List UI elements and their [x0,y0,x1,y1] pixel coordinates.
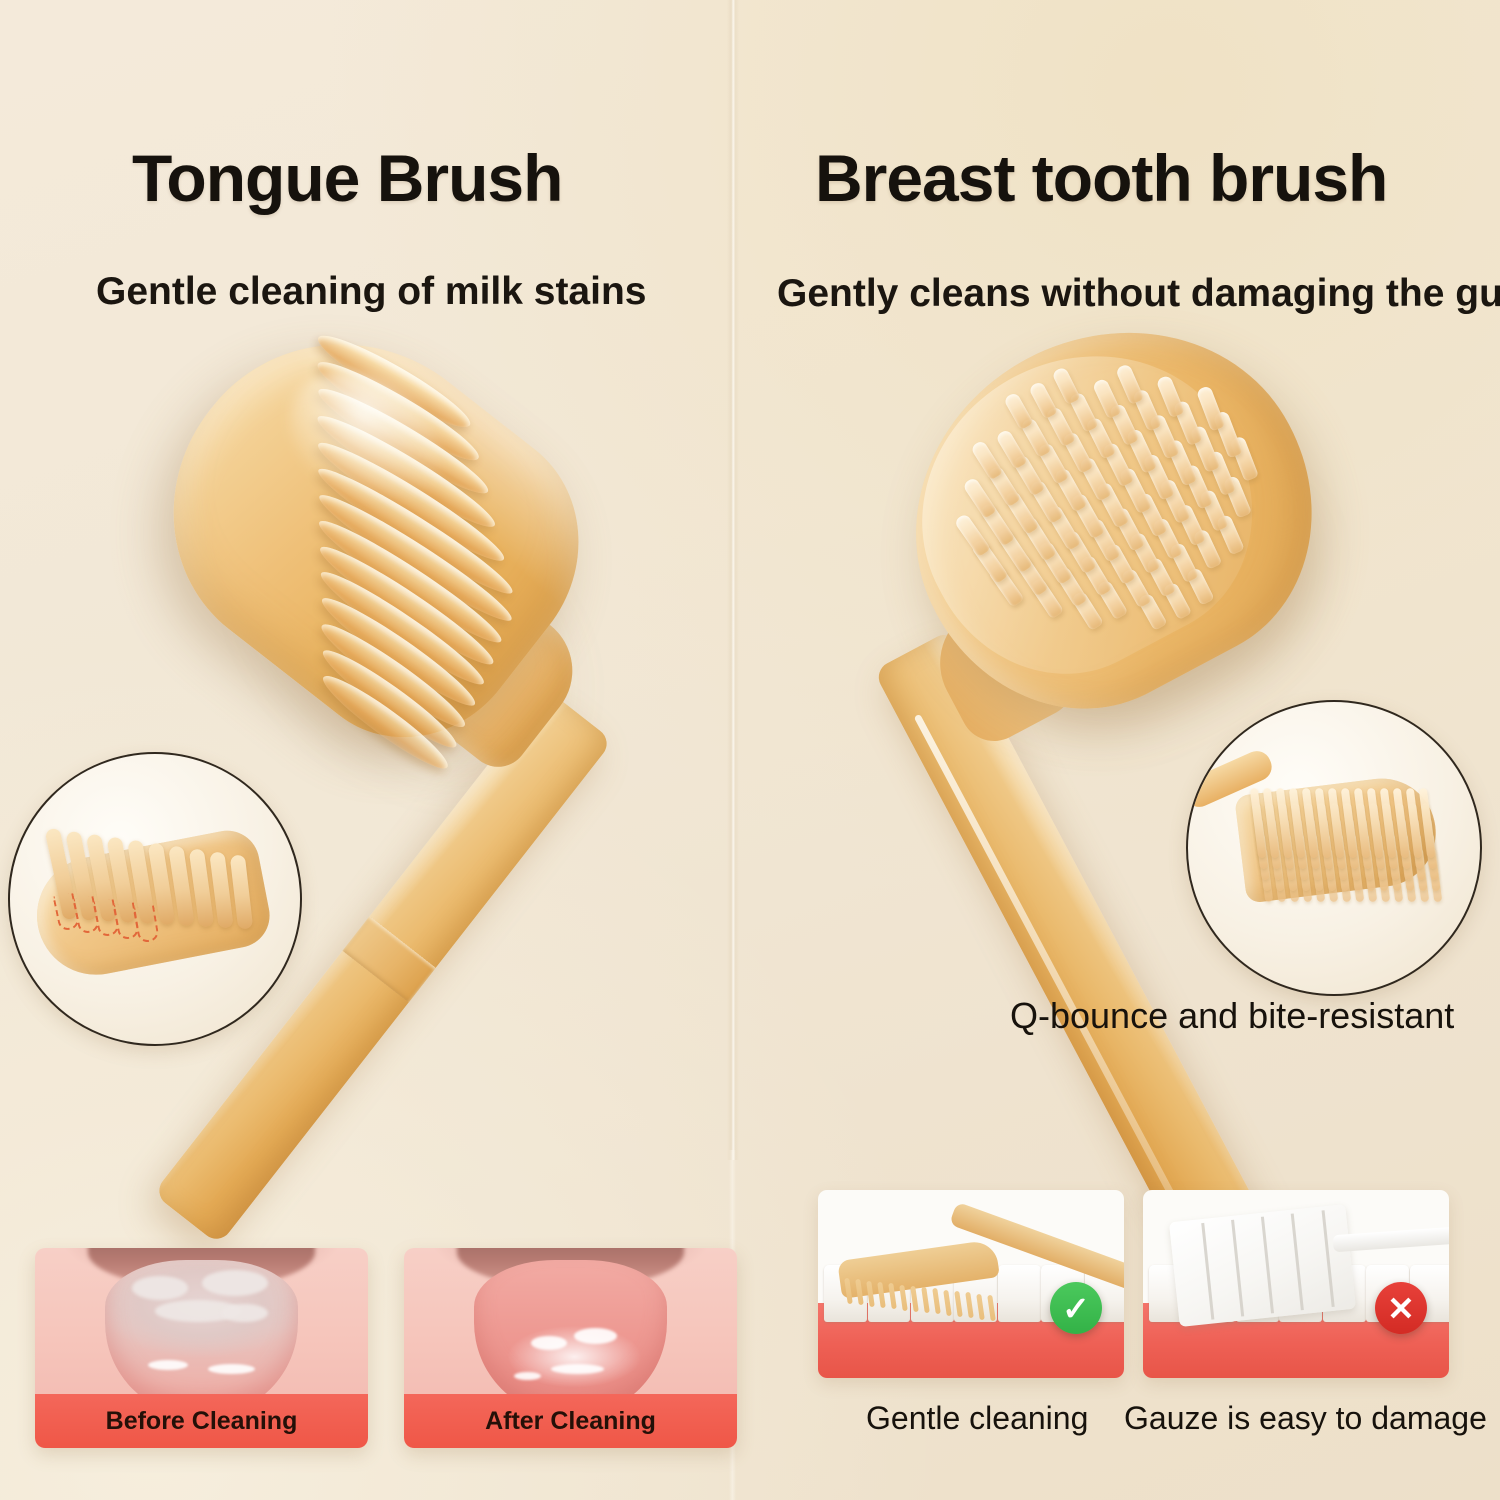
tooth-brush-detail-inset [1186,700,1482,996]
tooth-brush-inset-caption: Q-bounce and bite-resistant [1010,995,1480,1037]
before-cleaning-tile: Before Cleaning [35,1248,368,1448]
tongue-brush-detail-inset [8,752,302,1046]
gauze-damage-tile: ✕ [1143,1190,1449,1378]
gauze-illustration [1169,1204,1356,1327]
tongue-brush-handle-band [343,916,436,1002]
check-icon: ✓ [1050,1282,1102,1334]
tooth [998,1265,1041,1321]
gentle-cleaning-caption: Gentle cleaning [866,1400,1088,1437]
tooth-brush-handle-ridge [914,714,1202,1247]
left-panel-title: Tongue Brush [132,140,562,216]
infographic-canvas: Tongue Brush Gentle cleaning of milk sta… [0,0,1500,1500]
after-cleaning-label: After Cleaning [404,1394,737,1448]
tongue-after [474,1260,667,1416]
gentle-cleaning-tile: ✓ [818,1190,1124,1378]
gauze-damage-caption: Gauze is easy to damage [1124,1400,1487,1437]
close-icon: ✕ [1375,1282,1427,1334]
right-panel-title: Breast tooth brush [815,140,1387,216]
gauze-stick-illustration [1332,1227,1449,1252]
before-cleaning-label: Before Cleaning [35,1394,368,1448]
left-panel-subtitle: Gentle cleaning of milk stains [96,270,646,314]
after-cleaning-tile: After Cleaning [404,1248,737,1448]
